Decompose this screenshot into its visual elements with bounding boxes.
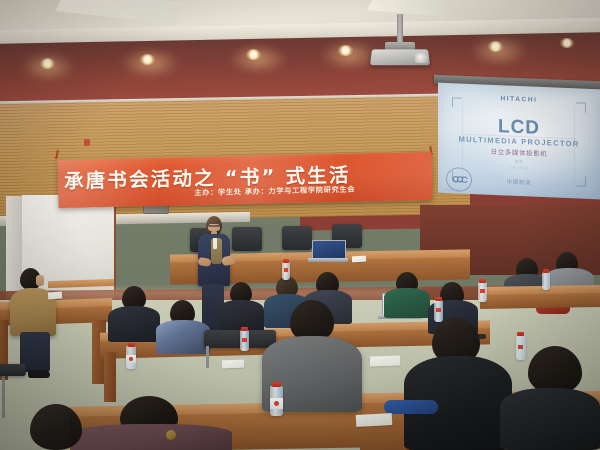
chair-frame bbox=[206, 346, 209, 368]
chair-leg bbox=[2, 372, 5, 418]
paper bbox=[370, 355, 400, 366]
bottle-label-mark bbox=[518, 345, 523, 349]
audience-jacket-green bbox=[384, 288, 430, 318]
bottle-label-mark bbox=[274, 401, 279, 406]
foreground-jacket-maroon bbox=[72, 424, 232, 450]
downlight bbox=[560, 38, 574, 48]
bottle-cap bbox=[479, 279, 486, 283]
jacket-button bbox=[166, 430, 176, 440]
bottle-label-mark bbox=[480, 289, 485, 293]
photograph-lecture-hall: HITACHI LCD MULTIMEDIA PROJECTOR 日立多媒体投影… bbox=[0, 0, 600, 450]
right-desk-front bbox=[480, 293, 600, 309]
paper bbox=[222, 360, 244, 369]
ccc-caption: CCC认证 bbox=[444, 187, 459, 193]
foreground-jacket-black bbox=[500, 388, 600, 450]
downlight bbox=[140, 54, 155, 65]
bottle-label-mark bbox=[242, 338, 247, 342]
foreground-head bbox=[528, 346, 582, 394]
bottle-cap bbox=[241, 327, 248, 331]
wall-light-glow bbox=[228, 44, 288, 74]
podium-laptop-base bbox=[308, 258, 348, 262]
bottle-label-mark bbox=[436, 308, 441, 312]
paper bbox=[356, 413, 393, 427]
bottle-cap bbox=[517, 332, 524, 336]
paper bbox=[352, 256, 366, 263]
downlight bbox=[40, 58, 55, 69]
audience-jacket-dark bbox=[108, 306, 160, 342]
downlight bbox=[246, 49, 261, 60]
speaker-shirt-collar bbox=[213, 238, 217, 249]
chair bbox=[232, 227, 262, 251]
bottle-cap bbox=[543, 269, 549, 273]
downlight bbox=[338, 45, 353, 56]
glasses-icon bbox=[208, 225, 220, 227]
downlight bbox=[488, 41, 503, 52]
pencil-case bbox=[384, 400, 438, 414]
foreground-head bbox=[30, 404, 82, 450]
bottle-cap bbox=[283, 259, 289, 263]
wall-marking bbox=[84, 139, 90, 146]
audience-face bbox=[36, 275, 44, 286]
chair-seat bbox=[0, 364, 26, 376]
projector-mount-pole bbox=[397, 14, 403, 44]
bottle-label-mark bbox=[129, 357, 133, 361]
bottle-cap bbox=[128, 343, 135, 347]
desk-leg bbox=[104, 352, 116, 402]
projector-lens-icon bbox=[415, 53, 428, 63]
audience-jacket-camo bbox=[156, 320, 210, 354]
projection-screen: HITACHI LCD MULTIMEDIA PROJECTOR 日立多媒体投影… bbox=[438, 83, 600, 200]
audience-shoe bbox=[28, 370, 50, 378]
event-banner: 承唐书会活动之 “书” 式生活 主办：学生处 承办：力学与工程学院研究生会 bbox=[58, 152, 433, 208]
water-bottle bbox=[542, 272, 550, 290]
bottle-cap bbox=[272, 382, 281, 387]
chair bbox=[282, 226, 312, 250]
phone-icon bbox=[48, 292, 62, 300]
bottle-label-mark bbox=[284, 268, 288, 272]
glasses-icon bbox=[466, 334, 486, 339]
bottle-cap bbox=[435, 297, 442, 301]
